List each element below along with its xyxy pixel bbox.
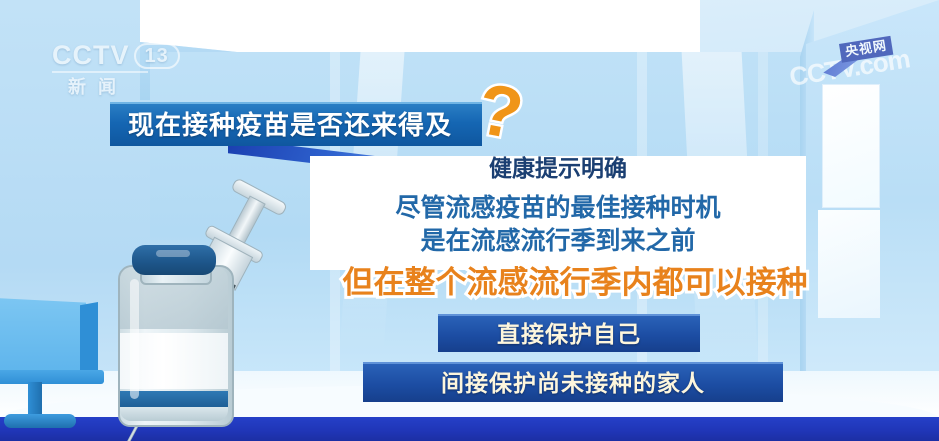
cctv-letters: CCTV <box>52 42 130 69</box>
chair-seat <box>0 370 104 384</box>
cctv-underline <box>52 71 148 73</box>
vial-cap <box>132 245 216 275</box>
benefit-label-2: 间接保护尚未接种的家人 <box>441 372 705 395</box>
statement-line-1: 尽管流感疫苗的最佳接种时机 <box>310 192 806 225</box>
vial-highlight <box>130 279 139 399</box>
benefit-banner-1: 直接保护自己 <box>438 314 700 352</box>
vial-cap-highlight <box>156 250 190 257</box>
chair-backrest <box>0 298 94 376</box>
chair-post <box>28 382 42 418</box>
cctv-channel-number: 13 <box>134 43 180 69</box>
light-panel <box>822 84 880 208</box>
benefit-banner-2: 间接保护尚未接种的家人 <box>363 362 783 402</box>
lead-text: 健康提示明确 <box>310 154 806 183</box>
cctv-channel-logo: CCTV 13 新闻 <box>52 42 192 98</box>
emphasis-text: 但在整个流感流行季内都可以接种 <box>275 266 875 300</box>
broadcast-graphic: 现在接种疫苗是否还来得及 ? 健康提示明确 尽管流感疫苗的最佳接种时机 是在流感… <box>0 0 939 441</box>
headline-text: 现在接种疫苗是否还来得及 <box>110 112 452 138</box>
statement-line-2: 是在流感流行季到来之前 <box>310 225 806 258</box>
clinic-chair <box>0 298 122 423</box>
cctv-wordmark: CCTV 13 <box>52 42 192 69</box>
benefit-label-1: 直接保护自己 <box>497 323 641 346</box>
vial-base <box>120 407 228 421</box>
light-panel-lower <box>818 210 880 318</box>
vaccine-vial-illustration <box>118 245 230 423</box>
headline-banner: 现在接种疫苗是否还来得及 <box>110 102 482 146</box>
cctv-channel-name: 新闻 <box>68 78 192 96</box>
statement-block: 尽管流感疫苗的最佳接种时机 是在流感流行季到来之前 <box>310 192 806 258</box>
chair-foot <box>4 414 76 428</box>
